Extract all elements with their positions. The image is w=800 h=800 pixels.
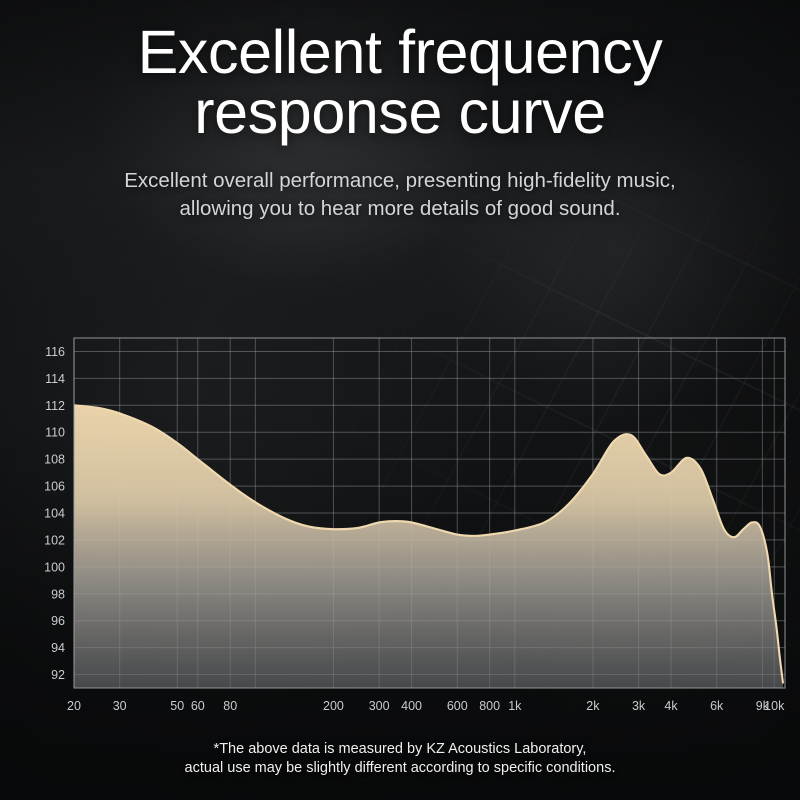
x-axis-tick-label: 10k [764, 699, 785, 713]
footnote-line-2: actual use may be slightly different acc… [0, 759, 800, 778]
y-axis-tick-label: 100 [44, 560, 65, 574]
x-axis-tick-label: 60 [191, 699, 205, 713]
x-axis-tick-label: 50 [170, 699, 184, 713]
y-axis-tick-label: 116 [45, 345, 65, 359]
x-axis-tick-label: 6k [710, 699, 724, 713]
y-axis-tick-label: 104 [44, 507, 65, 521]
x-axis-tick-label: 20 [67, 699, 81, 713]
y-axis-tick-label: 92 [51, 668, 65, 682]
chart-area-fill [74, 405, 783, 688]
x-axis-tick-label: 400 [401, 699, 422, 713]
footnote-line-1: *The above data is measured by KZ Acoust… [214, 741, 587, 757]
y-axis-tick-label: 112 [45, 399, 65, 413]
y-axis-tick-label: 114 [45, 372, 65, 386]
y-axis-tick-label: 108 [44, 453, 65, 467]
x-axis-tick-label: 800 [479, 699, 500, 713]
curve-area-fill [74, 405, 783, 688]
x-axis-tick-label: 200 [323, 699, 344, 713]
y-axis-tick-label: 110 [45, 426, 65, 440]
y-axis-tick-label: 106 [44, 480, 65, 494]
x-axis-labels: 20305060802003004006008001k2k3k4k6k9k10k [67, 699, 785, 713]
promo-page: Excellent frequency response curve Excel… [0, 0, 800, 800]
y-axis-tick-label: 94 [51, 641, 65, 655]
frequency-response-plot: 92949698100102104106108110112114116 2030… [0, 326, 800, 726]
y-axis-tick-label: 98 [51, 587, 65, 601]
page-subtitle: Excellent overall performance, presentin… [0, 167, 800, 223]
page-subtitle-line-2: allowing you to hear more details of goo… [0, 195, 800, 223]
y-axis-tick-label: 102 [44, 533, 65, 547]
header: Excellent frequency response curve Excel… [0, 0, 800, 223]
page-title: Excellent frequency response curve [0, 22, 800, 143]
x-axis-tick-label: 3k [632, 699, 646, 713]
footnote: *The above data is measured by KZ Acoust… [0, 740, 800, 779]
frequency-response-chart: 92949698100102104106108110112114116 2030… [0, 326, 800, 726]
x-axis-tick-label: 30 [113, 699, 127, 713]
page-subtitle-line-1: Excellent overall performance, presentin… [124, 169, 675, 192]
y-axis-labels: 92949698100102104106108110112114116 [44, 345, 65, 682]
x-axis-tick-label: 600 [447, 699, 468, 713]
x-axis-tick-label: 80 [223, 699, 237, 713]
x-axis-tick-label: 300 [369, 699, 390, 713]
y-axis-tick-label: 96 [51, 614, 65, 628]
page-title-line-1: Excellent frequency [138, 18, 663, 86]
x-axis-tick-label: 1k [508, 699, 522, 713]
x-axis-tick-label: 4k [664, 699, 678, 713]
page-title-line-2: response curve [0, 82, 800, 142]
x-axis-tick-label: 2k [586, 699, 600, 713]
